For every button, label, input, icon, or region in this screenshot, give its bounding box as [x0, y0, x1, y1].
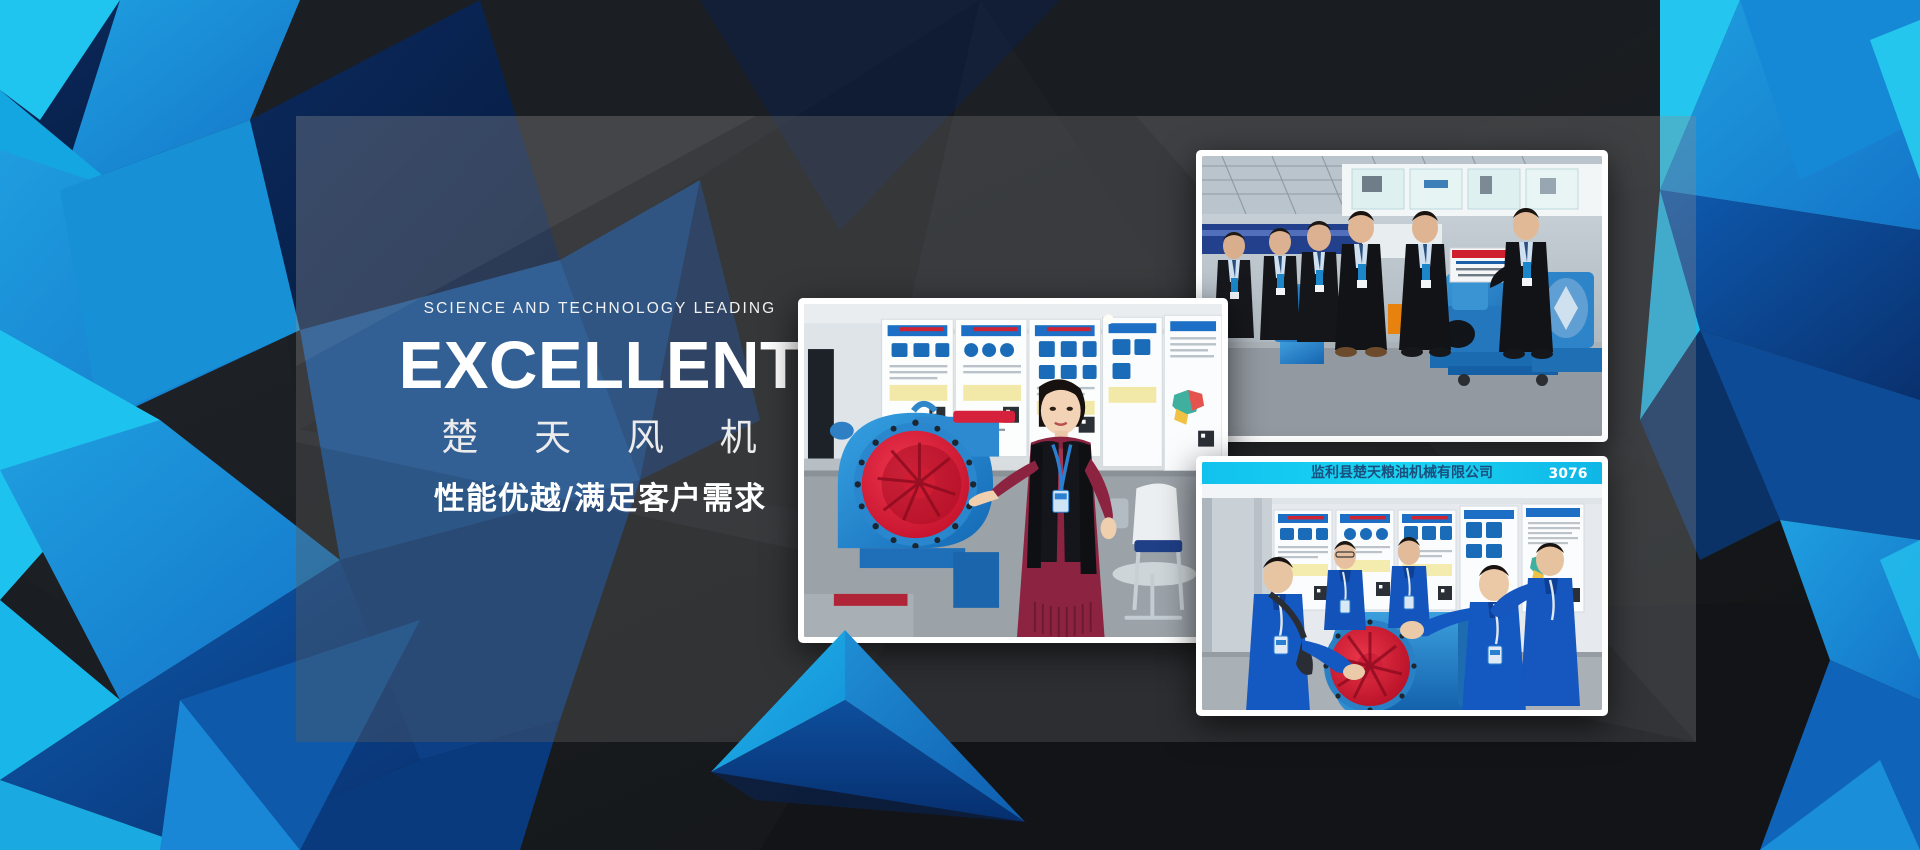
hero-headline: EXCELLENT — [390, 332, 810, 399]
photo-inner — [804, 304, 1222, 637]
photo-inner: 监利县楚天粮油机械有限公司 3076 — [1202, 462, 1602, 710]
hero-slogan: 性能优越/满足客户需求 — [390, 481, 810, 518]
exhibition-hostess-fan-image — [804, 304, 1222, 637]
exhibition-team-suits-image — [1202, 156, 1602, 436]
hero-banner: SCIENCE AND TECHNOLOGY LEADING EXCELLENT… — [0, 0, 1920, 850]
photo-exhibition-hostess-fan — [798, 298, 1228, 643]
hero-brand-cn: 楚 天 风 机 — [390, 415, 810, 461]
hero-text-block: SCIENCE AND TECHNOLOGY LEADING EXCELLENT… — [390, 300, 810, 518]
photo-inner — [1202, 156, 1602, 436]
photo-exhibition-team-suits — [1196, 150, 1608, 442]
foreground-pyramid — [655, 622, 1125, 850]
hero-eyebrow: SCIENCE AND TECHNOLOGY LEADING — [390, 300, 810, 318]
booth-banner-text: 监利县楚天粮油机械有限公司 — [1311, 464, 1493, 481]
booth-number-text: 3076 — [1549, 466, 1588, 482]
photo-exhibition-team-blue-shirts: 监利县楚天粮油机械有限公司 3076 — [1196, 456, 1608, 716]
foreground-pyramid-shape — [655, 622, 1125, 850]
exhibition-team-blue-shirts-image: 监利县楚天粮油机械有限公司 3076 — [1202, 462, 1602, 710]
